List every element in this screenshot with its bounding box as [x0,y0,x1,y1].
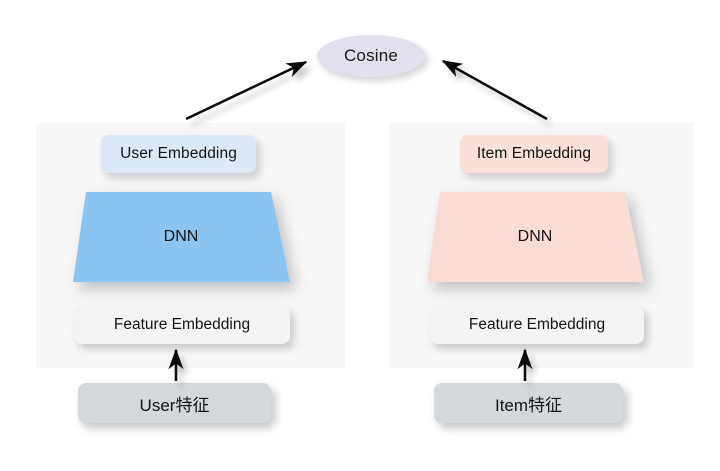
dnn-trapezoid-user [70,190,292,284]
user-raw-feature-label: User特征 [140,391,210,416]
arrow-user-embedding-to-cosine [186,62,306,119]
dnn-trapezoid-item [424,190,646,284]
user-raw-feature-box[interactable]: User特征 [78,383,271,423]
feature-embedding-label-item: Feature Embedding [469,316,605,334]
item-embedding-label: Item Embedding [477,145,591,163]
feature-embedding-box-item[interactable]: Feature Embedding [430,306,644,344]
cosine-node[interactable]: Cosine [317,35,425,77]
item-raw-feature-label: Item特征 [495,391,562,416]
item-raw-feature-box[interactable]: Item特征 [434,383,623,423]
user-embedding-label: User Embedding [120,145,237,163]
user-embedding-box[interactable]: User Embedding [101,135,256,173]
feature-embedding-label-user: Feature Embedding [114,316,250,334]
cosine-label: Cosine [344,46,398,66]
diagram-canvas: DNN DNN User Embedding Item Embedding Fe… [0,0,720,471]
item-embedding-box[interactable]: Item Embedding [460,135,608,173]
feature-embedding-box-user[interactable]: Feature Embedding [74,306,290,344]
arrow-item-embedding-to-cosine [443,61,547,119]
